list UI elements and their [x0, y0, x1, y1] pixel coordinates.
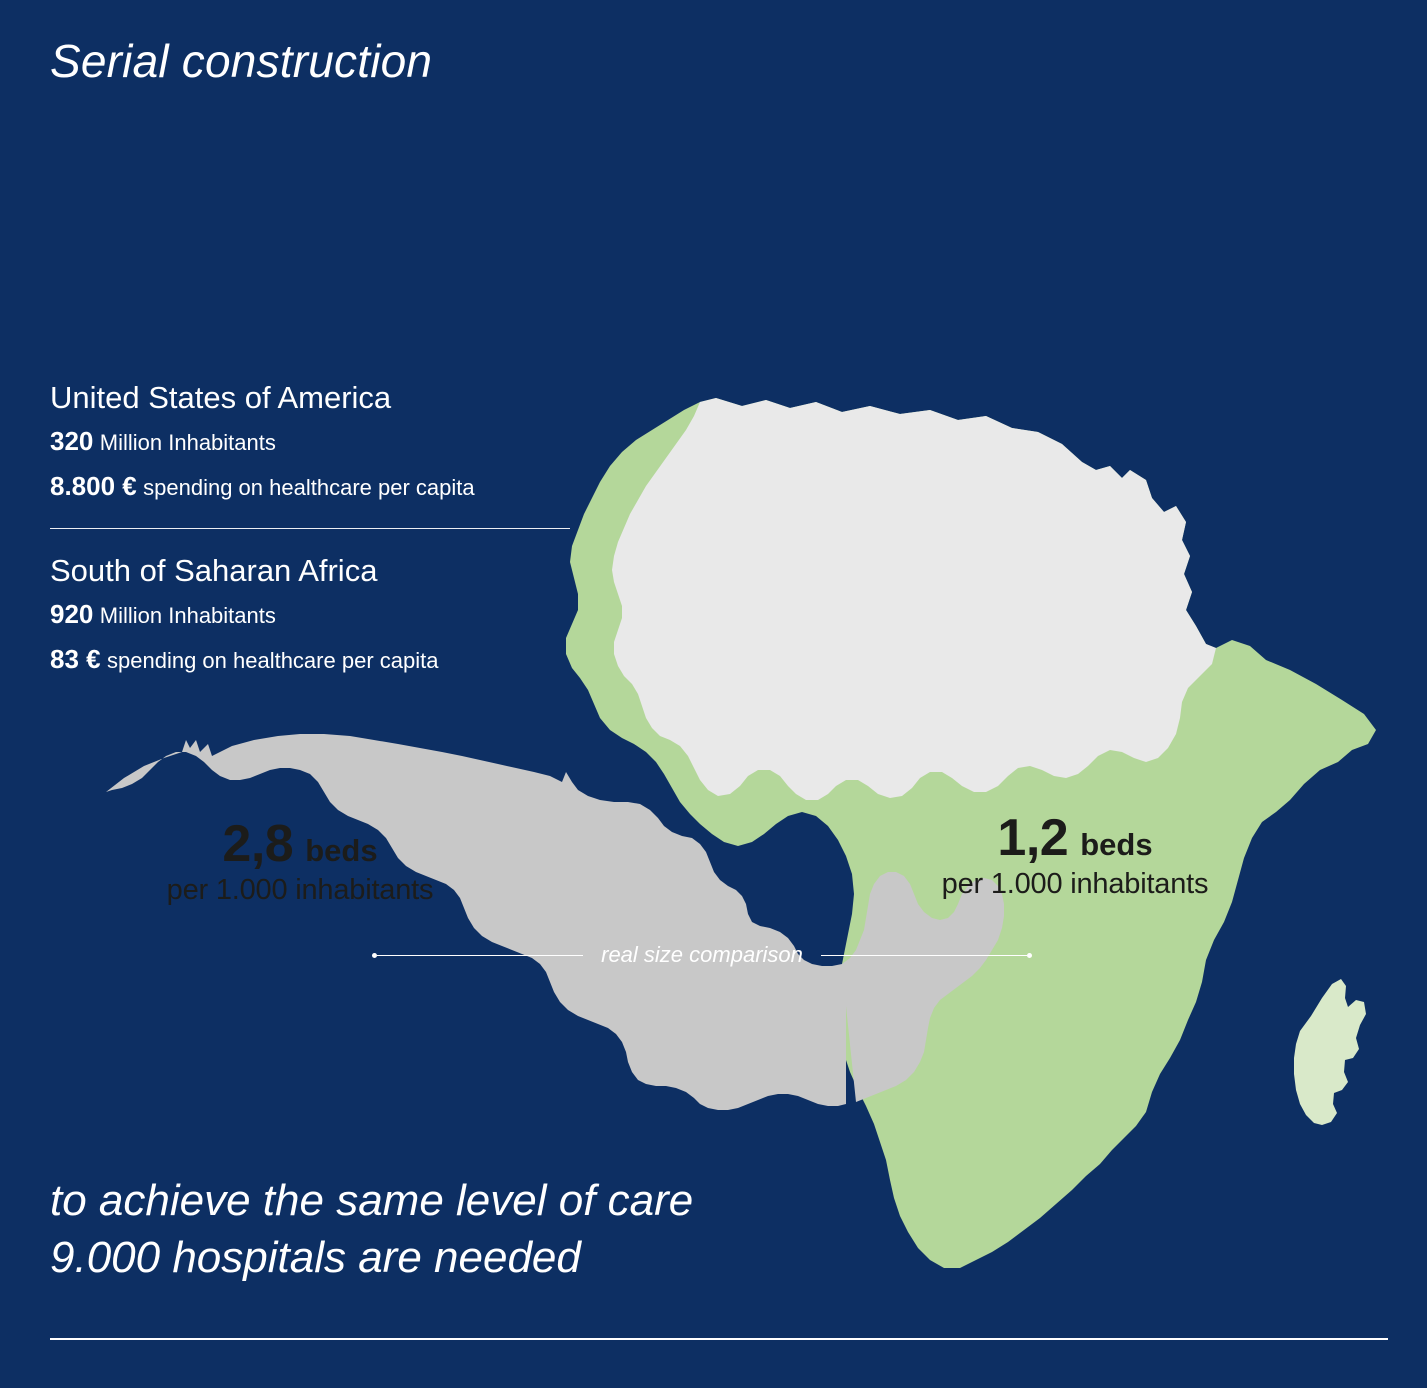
- usa-map: [106, 734, 1004, 1110]
- stat-spending-value-africa: 83 €: [50, 644, 101, 674]
- connector-dot-right: [1027, 953, 1032, 958]
- real-size-comparison-label: real size comparison: [583, 942, 821, 968]
- beds-callout-usa: 2,8beds per 1.000 inhabitants: [130, 818, 470, 907]
- beds-unit-africa: beds: [1080, 827, 1152, 862]
- connector-rule-left: [377, 955, 583, 956]
- stat-population-africa: 920 Million Inhabitants: [50, 592, 610, 637]
- statistics-panel: United States of America 320 Million Inh…: [50, 378, 610, 682]
- beds-sub-africa: per 1.000 inhabitants: [915, 868, 1235, 901]
- beds-sub-usa: per 1.000 inhabitants: [130, 874, 470, 907]
- madagascar-shape: [1294, 979, 1366, 1125]
- stat-country-africa: South of Saharan Africa: [50, 551, 610, 592]
- beds-value-usa: 2,8: [222, 815, 293, 873]
- beds-headline-usa: 2,8beds: [130, 818, 470, 870]
- footer-divider: [50, 1338, 1388, 1340]
- beds-unit-usa: beds: [305, 833, 377, 868]
- connector-rule-right: [821, 955, 1027, 956]
- infographic-canvas: Serial construction United States of Ame…: [0, 0, 1427, 1388]
- stat-population-value-usa: 320: [50, 426, 93, 456]
- conclusion-line-1: to achieve the same level of care: [50, 1172, 693, 1229]
- stat-population-label-usa: Million Inhabitants: [100, 430, 276, 455]
- stat-spending-label-usa: spending on healthcare per capita: [143, 475, 474, 500]
- stat-spending-africa: 83 € spending on healthcare per capita: [50, 637, 610, 682]
- beds-value-africa: 1,2: [997, 809, 1068, 867]
- stat-population-value-africa: 920: [50, 599, 93, 629]
- usa-shape: [106, 734, 1004, 1110]
- stat-country-usa: United States of America: [50, 378, 610, 419]
- stat-group-usa: United States of America 320 Million Inh…: [50, 378, 610, 508]
- stat-population-label-africa: Million Inhabitants: [100, 603, 276, 628]
- real-size-comparison-connector: real size comparison: [372, 938, 1032, 972]
- stat-spending-value-usa: 8.800 €: [50, 471, 137, 501]
- conclusion-line-2: 9.000 hospitals are needed: [50, 1229, 693, 1286]
- stat-group-africa: South of Saharan Africa 920 Million Inha…: [50, 551, 610, 681]
- page-title: Serial construction: [50, 34, 432, 88]
- stat-population-usa: 320 Million Inhabitants: [50, 419, 610, 464]
- beds-callout-africa: 1,2beds per 1.000 inhabitants: [915, 812, 1235, 901]
- conclusion-statement: to achieve the same level of care 9.000 …: [50, 1172, 693, 1286]
- africa-north-shape: [612, 398, 1216, 800]
- beds-headline-africa: 1,2beds: [915, 812, 1235, 864]
- stat-spending-usa: 8.800 € spending on healthcare per capit…: [50, 464, 610, 509]
- stats-divider: [50, 528, 570, 529]
- stat-spending-label-africa: spending on healthcare per capita: [107, 648, 438, 673]
